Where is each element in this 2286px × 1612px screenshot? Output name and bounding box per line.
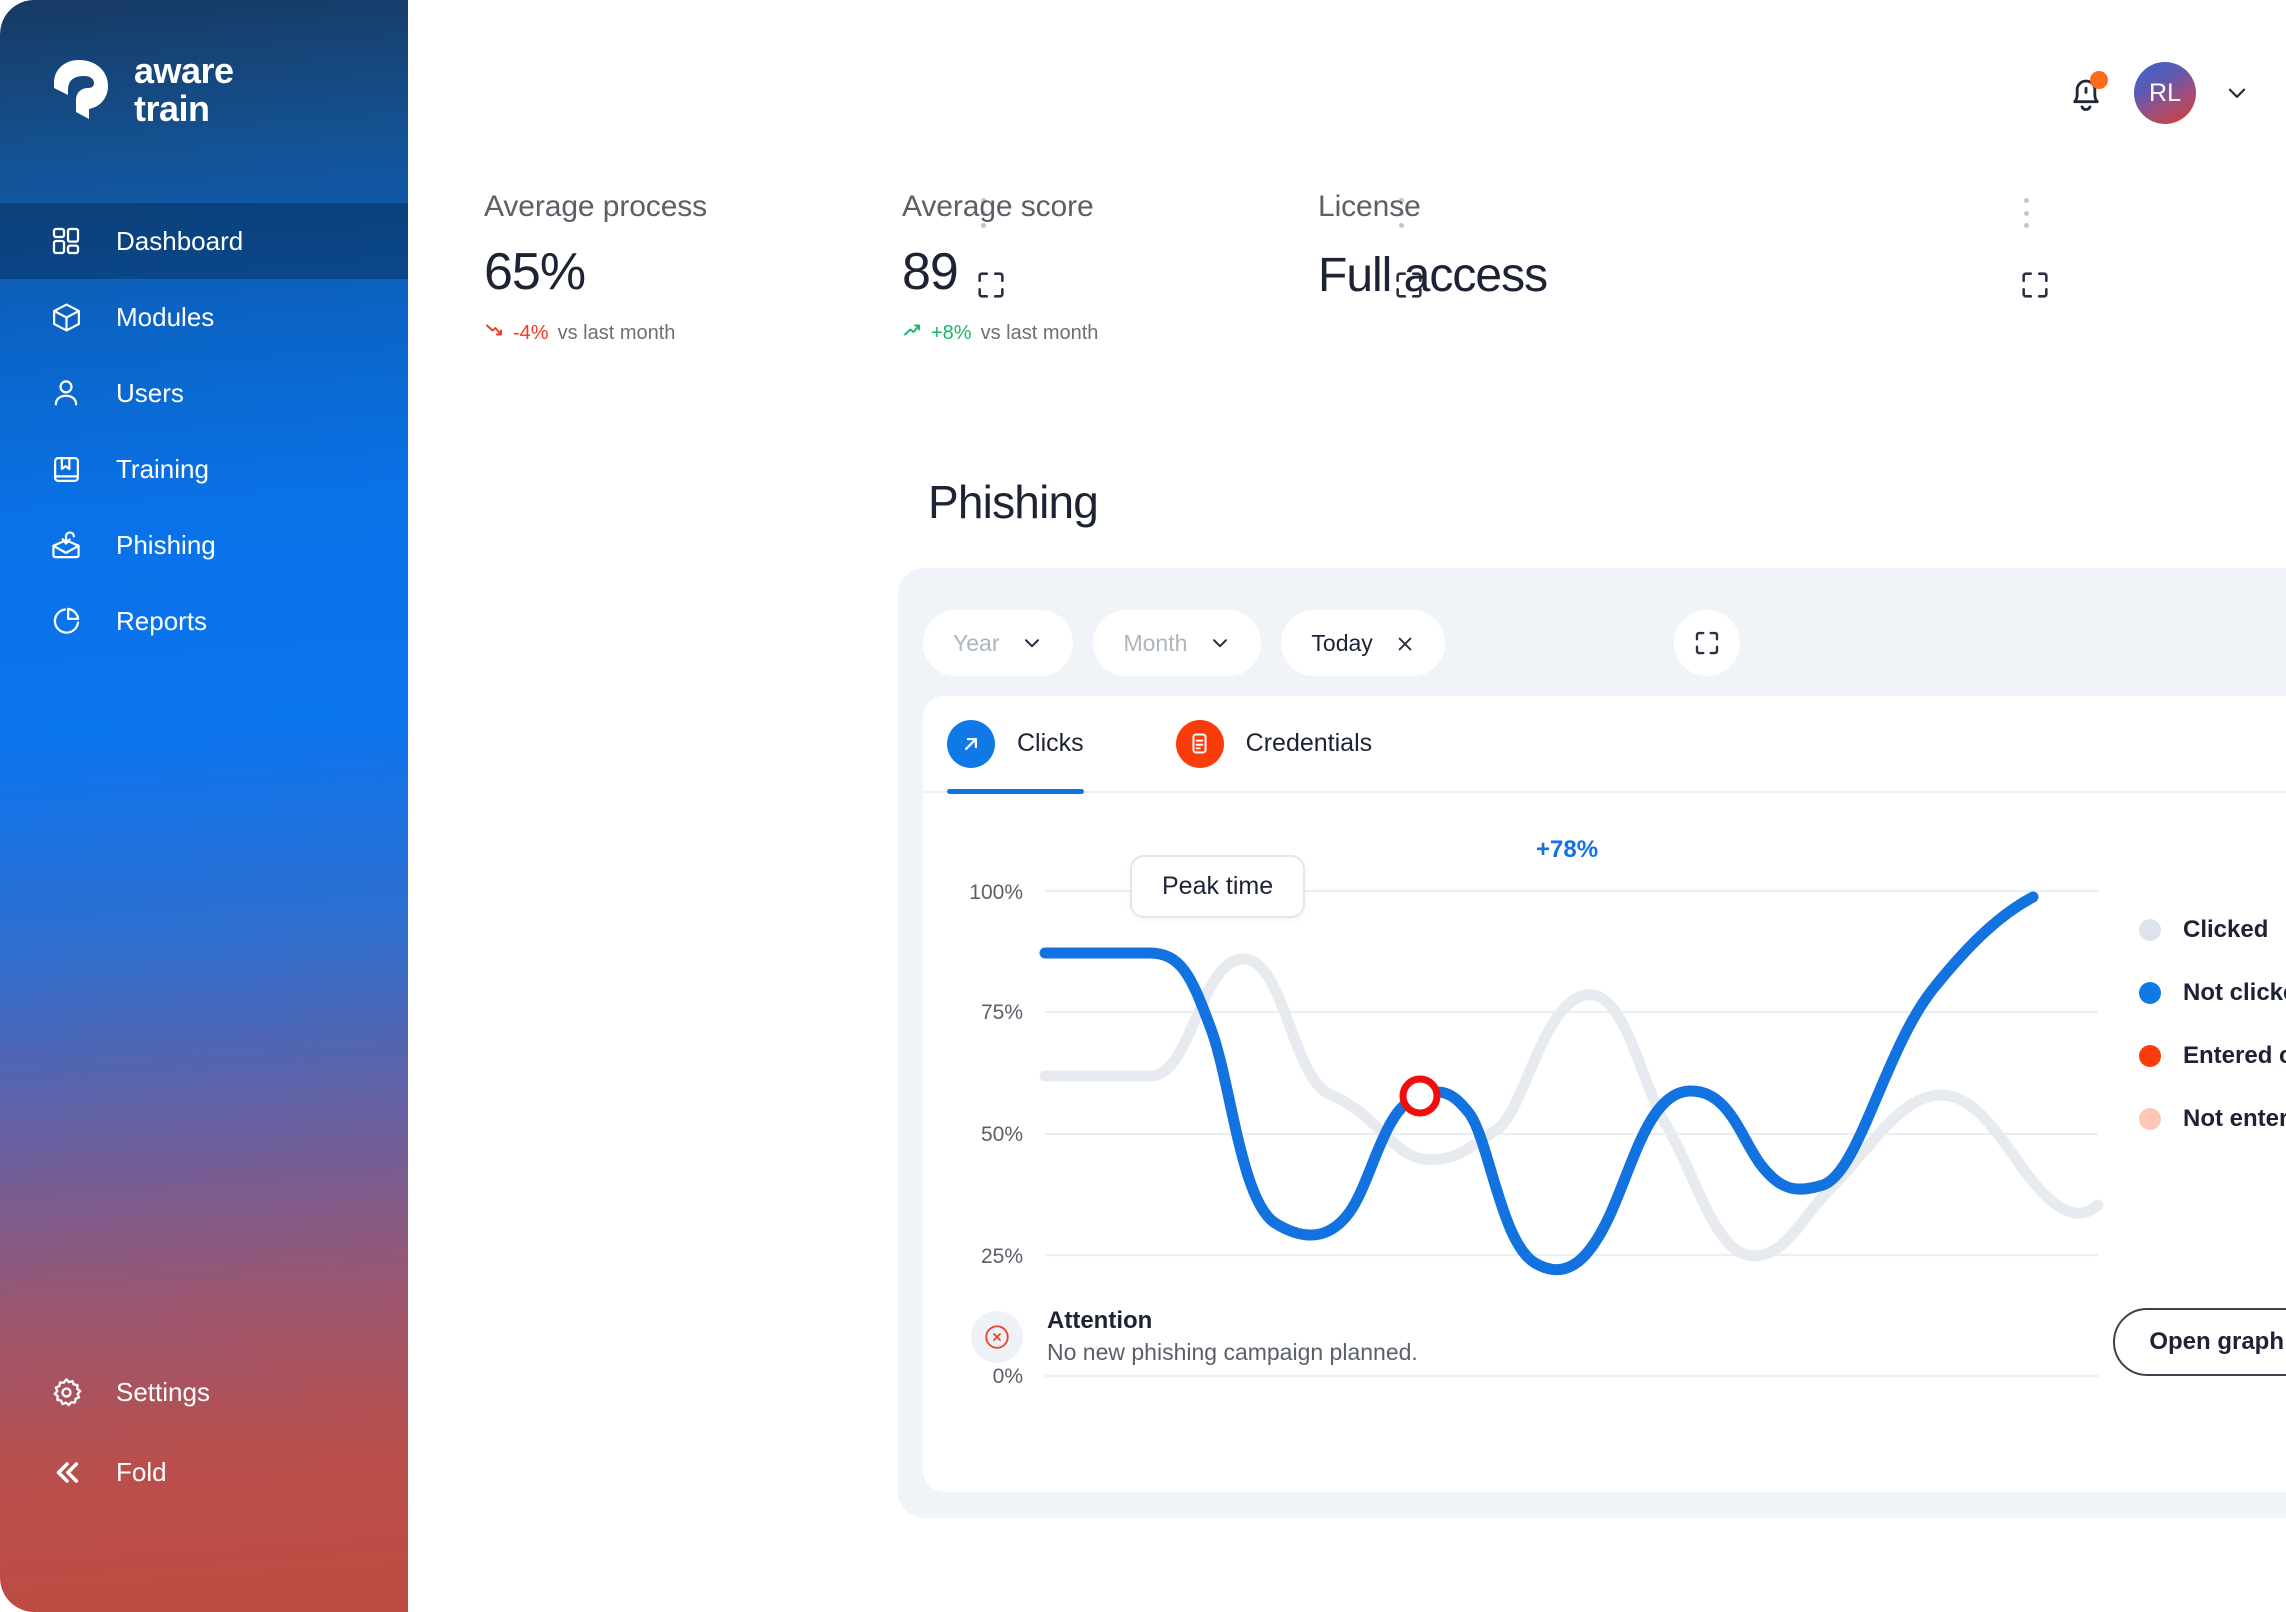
legend-swatch — [2139, 1108, 2161, 1130]
legend-label: Not entered credentials — [2183, 1105, 2286, 1133]
legend-item-clicked[interactable]: Clicked — [2139, 898, 2286, 961]
error-circle-icon — [971, 1311, 1023, 1363]
tab-label: Credentials — [1246, 729, 1372, 758]
sidebar: aware train Dashboard — [0, 0, 408, 1612]
phishing-panel: Year Month Today — [898, 568, 2286, 1518]
sidebar-item-dashboard[interactable]: Dashboard — [0, 203, 408, 279]
stat-delta-suffix: vs last month — [558, 322, 676, 345]
gear-icon — [46, 1372, 86, 1412]
peak-time-marker[interactable] — [1403, 1079, 1437, 1113]
chart-series-not-clicked — [1045, 897, 2033, 1270]
expand-icon[interactable] — [2018, 268, 2052, 302]
chart-plot-area — [923, 793, 2286, 1492]
sidebar-item-settings[interactable]: Settings — [0, 1352, 408, 1432]
filter-bar: Year Month Today — [923, 610, 1445, 676]
chevron-down-icon — [1209, 632, 1231, 654]
sidebar-item-label: Training — [116, 454, 209, 485]
phishing-hook-mail-icon — [46, 525, 86, 565]
arrow-trend-down-icon — [484, 320, 504, 346]
today-filter-label: Today — [1311, 630, 1372, 657]
tab-label: Clicks — [1017, 729, 1084, 758]
brand-name: aware train — [134, 52, 234, 128]
expand-icon[interactable] — [1674, 610, 1740, 676]
kebab-menu-icon[interactable] — [2023, 198, 2029, 228]
cube-icon — [46, 297, 86, 337]
attention-title: Attention — [1047, 1306, 1418, 1336]
app-window: aware train Dashboard — [0, 0, 2286, 1612]
chevron-down-icon[interactable] — [2224, 80, 2250, 106]
stat-value: Full access — [1318, 248, 1547, 303]
sidebar-item-phishing[interactable]: Phishing — [0, 507, 408, 583]
section-header: Phishing Detailed statistics — [928, 475, 2286, 529]
main-content: RL Average process 65% — [408, 0, 2286, 1612]
peak-time-tooltip: Peak time — [1130, 855, 1305, 918]
legend-label: Entered credentials — [2183, 1042, 2286, 1070]
arrow-up-right-icon — [947, 720, 995, 768]
stat-delta-value: +8% — [931, 322, 972, 345]
dashboard-grid-icon — [46, 221, 86, 261]
open-graph-details-button[interactable]: Open graph details — [2113, 1308, 2286, 1376]
attention-message: Attention No new phishing campaign plann… — [971, 1306, 1418, 1368]
bell-icon[interactable] — [2066, 71, 2106, 115]
sidebar-item-label: Fold — [116, 1457, 167, 1488]
notification-badge — [2090, 71, 2108, 89]
year-select[interactable]: Year — [923, 610, 1073, 676]
today-filter-chip[interactable]: Today — [1281, 610, 1444, 676]
graph-tabs: Clicks Credentials — [923, 696, 2286, 793]
sidebar-item-label: Reports — [116, 606, 207, 637]
legend-swatch — [2139, 1045, 2161, 1067]
sidebar-nav-bottom: Settings Fold — [0, 1352, 408, 1512]
growth-badge: +78% — [1536, 836, 1598, 864]
avatar-initials: RL — [2149, 79, 2181, 108]
user-icon — [46, 373, 86, 413]
arrow-trend-up-icon — [902, 320, 922, 346]
tab-credentials[interactable]: Credentials — [1176, 695, 1372, 792]
sidebar-item-label: Dashboard — [116, 226, 243, 257]
sidebar-item-label: Modules — [116, 302, 214, 333]
legend-label: Not clicked — [2183, 979, 2286, 1007]
double-chevron-left-icon — [46, 1452, 86, 1492]
chart-gridlines — [1045, 891, 2098, 1376]
stat-card-license: License Full access — [1318, 190, 1858, 380]
stat-delta: -4% vs last month — [484, 320, 675, 346]
stat-delta-suffix: vs last month — [981, 322, 1099, 345]
sidebar-item-label: Users — [116, 378, 184, 409]
document-icon — [1176, 720, 1224, 768]
sidebar-item-training[interactable]: Training — [0, 431, 408, 507]
stat-value: 65% — [484, 242, 585, 302]
sidebar-item-modules[interactable]: Modules — [0, 279, 408, 355]
page-title: Phishing — [928, 475, 1098, 529]
stat-title: License — [1318, 190, 1858, 224]
legend-label: Clicked — [2183, 916, 2268, 944]
sidebar-item-label: Settings — [116, 1377, 210, 1408]
stat-delta-value: -4% — [513, 322, 549, 345]
legend-item-not-clicked[interactable]: Not clicked — [2139, 961, 2286, 1024]
year-select-label: Year — [953, 630, 999, 657]
book-bookmark-icon — [46, 449, 86, 489]
legend-item-not-entered-credentials[interactable]: Not entered credentials — [2139, 1087, 2286, 1150]
brand-logo[interactable]: aware train — [46, 52, 234, 128]
sidebar-nav: Dashboard Modules User — [0, 203, 408, 659]
sidebar-item-users[interactable]: Users — [0, 355, 408, 431]
legend-swatch — [2139, 919, 2161, 941]
avatar[interactable]: RL — [2134, 62, 2196, 124]
month-select-label: Month — [1123, 630, 1187, 657]
tab-clicks[interactable]: Clicks — [947, 695, 1084, 792]
legend-swatch — [2139, 982, 2161, 1004]
sidebar-item-fold[interactable]: Fold — [0, 1432, 408, 1512]
month-select[interactable]: Month — [1093, 610, 1261, 676]
attention-text: No new phishing campaign planned. — [1047, 1336, 1418, 1368]
close-icon[interactable] — [1395, 633, 1415, 653]
stat-delta: +8% vs last month — [902, 320, 1098, 346]
pie-chart-icon — [46, 601, 86, 641]
aware-train-logo-icon — [46, 55, 116, 125]
legend-item-entered-credentials[interactable]: Entered credentials — [2139, 1024, 2286, 1087]
phishing-line-chart: 100% 75% 50% 25% 0% — [923, 793, 2286, 1492]
sidebar-item-label: Phishing — [116, 530, 216, 561]
stat-cards: Average process 65% -4% vs last month — [408, 190, 2286, 380]
chart-legend: Clicked Not clicked Entered credentials — [2139, 898, 2286, 1150]
graph-card: Clicks Credentials 100% — [923, 696, 2286, 1492]
stat-value: 89 — [902, 242, 958, 302]
sidebar-item-reports[interactable]: Reports — [0, 583, 408, 659]
topbar: RL — [2066, 62, 2250, 124]
chevron-down-icon — [1021, 632, 1043, 654]
